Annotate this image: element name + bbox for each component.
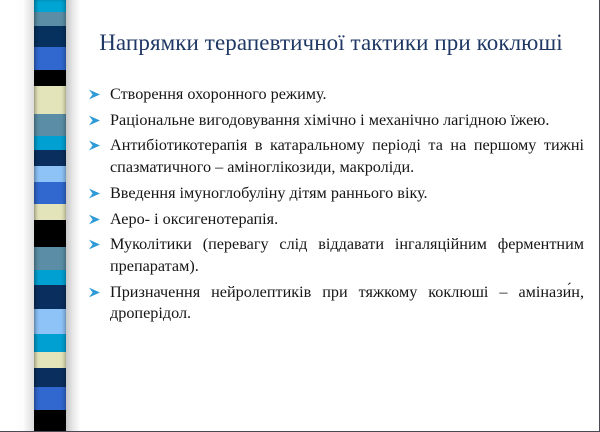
color-block-13 bbox=[34, 247, 66, 271]
color-block-10 bbox=[34, 182, 66, 204]
arrowhead-right-icon bbox=[88, 183, 110, 199]
color-block-5 bbox=[34, 86, 66, 114]
color-block-21 bbox=[34, 410, 66, 432]
list-item: Муколітики (перевагу слід віддавати інга… bbox=[88, 234, 584, 277]
color-block-8 bbox=[34, 150, 66, 167]
color-block-14 bbox=[34, 270, 66, 285]
color-block-11 bbox=[34, 204, 66, 221]
color-block-4 bbox=[34, 70, 66, 87]
color-block-2 bbox=[34, 26, 66, 47]
list-item-text: Антибіотикотерапія в катаральному період… bbox=[110, 135, 584, 178]
color-block-1 bbox=[34, 12, 66, 27]
arrowhead-right-icon bbox=[88, 234, 110, 250]
list-item-text: Аеро- і оксигенотерапія. bbox=[110, 209, 584, 231]
color-block-7 bbox=[34, 136, 66, 151]
color-block-strip bbox=[34, 0, 66, 432]
color-block-9 bbox=[34, 166, 66, 183]
slide-title: Напрямки терапевтичної тактики при коклю… bbox=[96, 29, 566, 58]
bullet-list: Створення охоронного режиму.Раціональне … bbox=[88, 84, 584, 329]
list-item-text: Введення імуноглобуліну дітям раннього в… bbox=[110, 183, 584, 205]
list-item: Створення охоронного режиму. bbox=[88, 84, 584, 106]
band-outer-highlight bbox=[0, 0, 24, 432]
list-item-text: Призначення нейролептиків при тяжкому ко… bbox=[110, 282, 584, 325]
list-item: Антибіотикотерапія в катаральному період… bbox=[88, 135, 584, 178]
color-block-17 bbox=[34, 334, 66, 352]
list-item: Призначення нейролептиків при тяжкому ко… bbox=[88, 282, 584, 325]
list-item: Введення імуноглобуліну дітям раннього в… bbox=[88, 183, 584, 205]
color-block-3 bbox=[34, 47, 66, 71]
list-item-text: Муколітики (перевагу слід віддавати інга… bbox=[110, 234, 584, 277]
color-block-12 bbox=[34, 220, 66, 247]
left-decorative-band bbox=[0, 0, 92, 432]
arrowhead-right-icon bbox=[88, 209, 110, 225]
arrowhead-right-icon bbox=[88, 84, 110, 100]
color-block-6 bbox=[34, 114, 66, 136]
color-block-0 bbox=[34, 0, 66, 12]
arrowhead-right-icon bbox=[88, 282, 110, 298]
color-block-20 bbox=[34, 387, 66, 411]
color-block-19 bbox=[34, 368, 66, 388]
color-block-15 bbox=[34, 285, 66, 310]
color-block-16 bbox=[34, 309, 66, 334]
presentation-slide: Напрямки терапевтичної тактики при коклю… bbox=[0, 0, 600, 432]
list-item: Раціональне вигодовування хімічно і меха… bbox=[88, 110, 584, 132]
list-item-text: Раціональне вигодовування хімічно і меха… bbox=[110, 110, 584, 132]
color-block-18 bbox=[34, 352, 66, 369]
arrowhead-right-icon bbox=[88, 110, 110, 126]
arrowhead-right-icon bbox=[88, 135, 110, 151]
list-item-text: Створення охоронного режиму. bbox=[110, 84, 584, 106]
list-item: Аеро- і оксигенотерапія. bbox=[88, 209, 584, 231]
